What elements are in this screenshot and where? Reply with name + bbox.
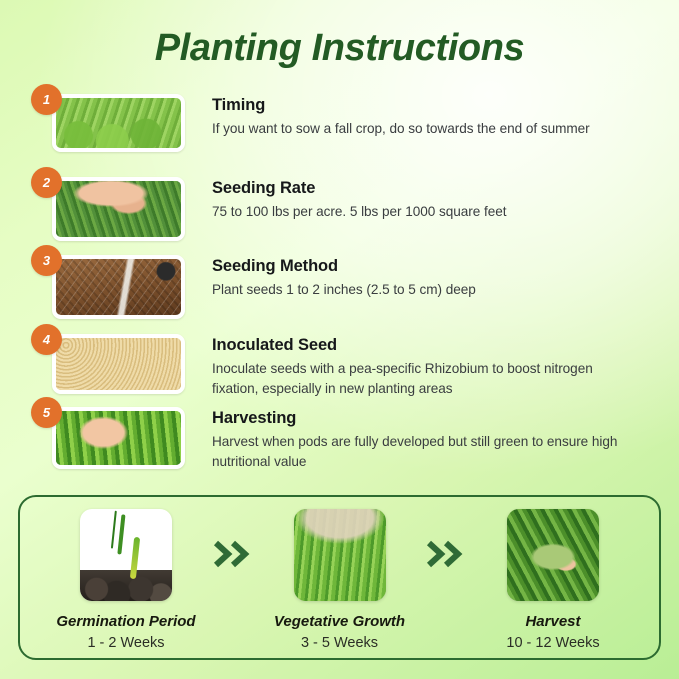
step-thumbnail-5: 5 xyxy=(52,407,185,469)
harvesting-pods-photo xyxy=(52,407,185,469)
timeline-stage-duration-1: 1 - 2 Weeks xyxy=(42,634,210,653)
step-text-1: Timing If you want to sow a fall crop, d… xyxy=(212,94,632,139)
rake-in-soil-photo xyxy=(52,255,185,319)
step-number-badge-1: 1 xyxy=(31,84,62,115)
timeline-stage-duration-3: 10 - 12 Weeks xyxy=(469,634,637,653)
step-description-5: Harvest when pods are fully developed bu… xyxy=(212,432,632,471)
step-number-badge-5: 5 xyxy=(31,397,62,428)
double-chevron-right-icon xyxy=(211,539,255,569)
step-heading-4: Inoculated Seed xyxy=(212,334,632,356)
sprouting-seed-photo xyxy=(80,509,172,601)
step-thumbnail-3: 3 xyxy=(52,255,185,319)
step-number-badge-4: 4 xyxy=(31,324,62,355)
timeline-stage-germination: Germination Period 1 - 2 Weeks xyxy=(42,509,210,653)
step-heading-5: Harvesting xyxy=(212,407,632,429)
step-text-3: Seeding Method Plant seeds 1 to 2 inches… xyxy=(212,255,632,300)
page-title: Planting Instructions xyxy=(0,24,679,72)
pea-seeds-photo xyxy=(52,334,185,394)
young-pea-plants-photo xyxy=(294,509,386,601)
photo-art xyxy=(80,509,172,601)
timeline-stage-label-2: Vegetative Growth xyxy=(256,612,424,631)
step-thumbnail-1: 1 xyxy=(52,94,185,152)
step-thumbnail-4: 4 xyxy=(52,334,185,394)
growth-timeline-panel: Germination Period 1 - 2 Weeks Vegetativ… xyxy=(18,495,661,660)
step-text-5: Harvesting Harvest when pods are fully d… xyxy=(212,407,632,471)
step-number-badge-2: 2 xyxy=(31,167,62,198)
photo-art xyxy=(56,181,181,237)
infographic-page: Planting Instructions 1 Timing If you wa… xyxy=(0,0,679,679)
step-description-2: 75 to 100 lbs per acre. 5 lbs per 1000 s… xyxy=(212,202,632,222)
hand-sowing-seeds-photo xyxy=(52,177,185,241)
harvested-pea-pods-photo xyxy=(507,509,599,601)
timeline-stage-label-1: Germination Period xyxy=(42,612,210,631)
photo-art xyxy=(56,259,181,315)
step-description-1: If you want to sow a fall crop, do so to… xyxy=(212,119,632,139)
growth-timeline-row: Germination Period 1 - 2 Weeks Vegetativ… xyxy=(20,497,659,658)
timeline-stage-harvest: Harvest 10 - 12 Weeks xyxy=(469,509,637,653)
step-heading-1: Timing xyxy=(212,94,632,116)
photo-art xyxy=(294,509,386,601)
photo-art xyxy=(507,509,599,601)
photo-art xyxy=(56,98,181,148)
photo-art xyxy=(56,411,181,465)
step-number-badge-3: 3 xyxy=(31,245,62,276)
step-thumbnail-2: 2 xyxy=(52,177,185,241)
step-text-2: Seeding Rate 75 to 100 lbs per acre. 5 l… xyxy=(212,177,632,222)
timeline-stage-label-3: Harvest xyxy=(469,612,637,631)
timeline-stage-vegetative: Vegetative Growth 3 - 5 Weeks xyxy=(256,509,424,653)
step-description-4: Inoculate seeds with a pea-specific Rhiz… xyxy=(212,359,632,398)
step-heading-2: Seeding Rate xyxy=(212,177,632,199)
photo-art xyxy=(56,338,181,390)
step-text-4: Inoculated Seed Inoculate seeds with a p… xyxy=(212,334,632,398)
timeline-stage-duration-2: 3 - 5 Weeks xyxy=(256,634,424,653)
double-chevron-right-icon xyxy=(424,539,468,569)
pea-field-photo xyxy=(52,94,185,152)
step-heading-3: Seeding Method xyxy=(212,255,632,277)
step-description-3: Plant seeds 1 to 2 inches (2.5 to 5 cm) … xyxy=(212,280,632,300)
